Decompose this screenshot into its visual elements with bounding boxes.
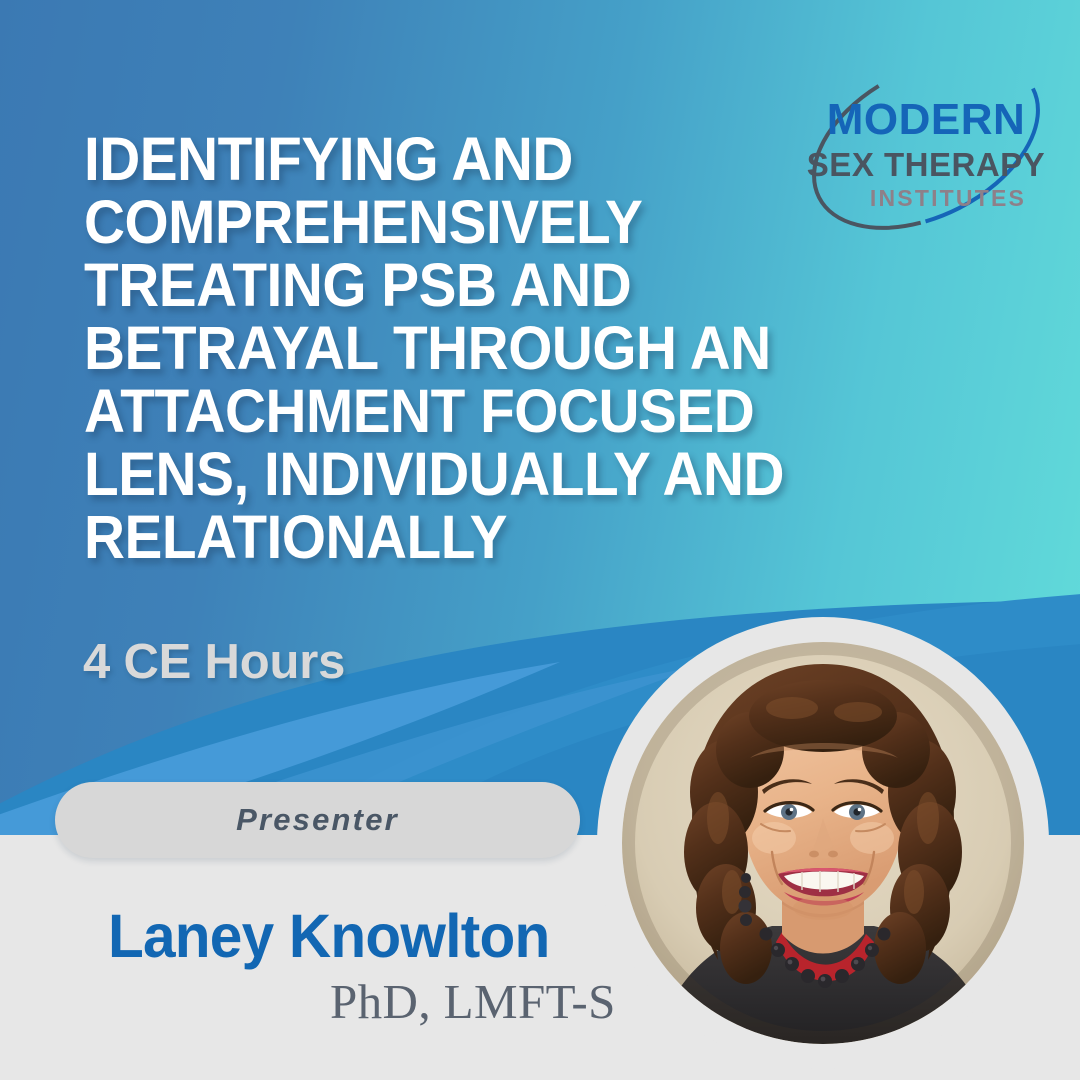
presenter-credentials: PhD, LMFT-S <box>330 973 616 1030</box>
presenter-badge: Presenter <box>55 782 580 858</box>
course-promo-poster: MODERN SEX THERAPY INSTITUTES IDENTIFYIN… <box>0 0 1080 1080</box>
ce-hours-label: 4 CE Hours <box>83 634 345 690</box>
presenter-name: Laney Knowlton <box>108 901 549 971</box>
presenter-badge-label: Presenter <box>236 802 399 838</box>
portrait-illustration <box>622 642 1024 1044</box>
presenter-portrait <box>622 642 1024 1044</box>
course-title: IDENTIFYING AND COMPREHENSIVELY TREATING… <box>84 128 902 569</box>
